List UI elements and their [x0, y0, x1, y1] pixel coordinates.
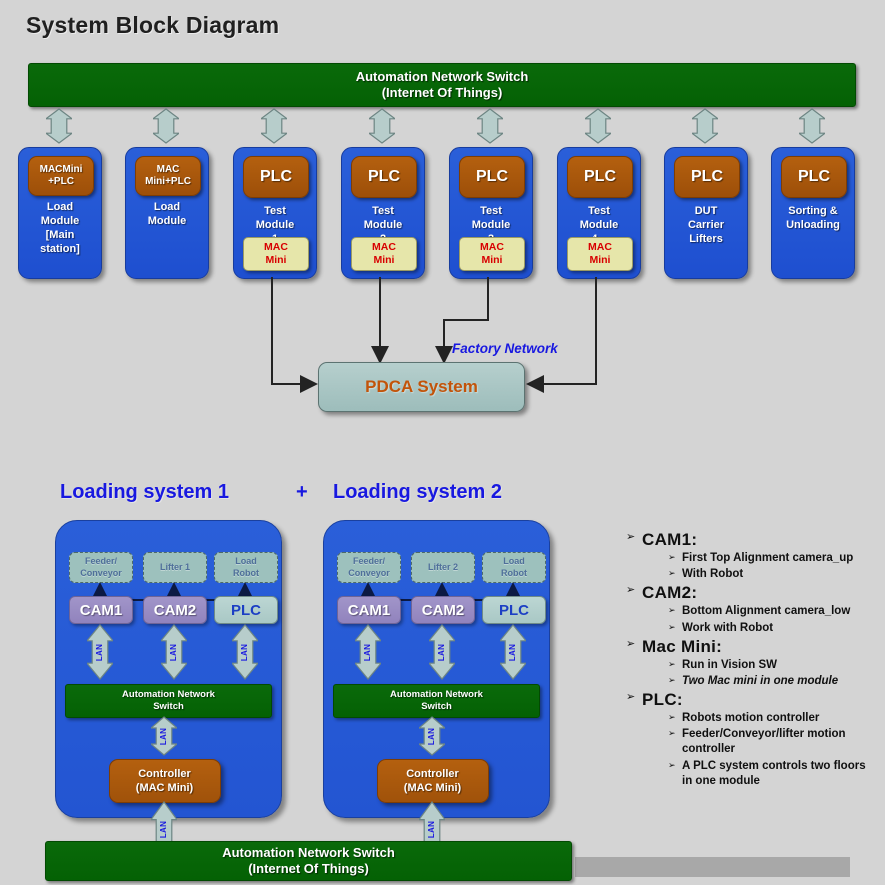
- legend: ➢CAM1:➢First Top Alignment camera_up➢Wit…: [616, 530, 878, 790]
- switch-link-arrow-6: [585, 108, 611, 144]
- legend-group-1-item-2-text: With Robot: [682, 567, 743, 582]
- loading-system-1-device-1[interactable]: Feeder/Conveyor: [69, 552, 133, 583]
- module-1-label-line-4: station]: [19, 242, 101, 256]
- bottom-gray-rail: [575, 857, 850, 877]
- top-switch-line1: Automation Network Switch: [356, 69, 529, 85]
- bottom-switch-line1: Automation Network Switch: [222, 845, 395, 861]
- module-3-macmini-line-1: MAC: [264, 241, 288, 254]
- loading-system-2-controller-line1: Controller: [406, 767, 459, 781]
- module-2-chip-line-2: Mini+PLC: [145, 176, 191, 188]
- legend-group-4-item-2: ➢Feeder/Conveyor/lifter motion controlle…: [668, 727, 878, 757]
- module-6-macmini-line-1: MAC: [588, 241, 612, 254]
- loading-system-2-lan-label-controller: LAN: [427, 728, 436, 745]
- top-automation-network-switch: Automation Network Switch (Internet Of T…: [28, 63, 856, 107]
- loading-system-2-device-3[interactable]: LoadRobot: [482, 552, 546, 583]
- module-7-label-line-2: Carrier: [665, 218, 747, 232]
- legend-group-3: ➢Mac Mini:: [626, 637, 878, 657]
- loading-system-1-control-1-label: CAM2: [154, 602, 197, 619]
- module-6-mac-mini[interactable]: MACMini: [567, 237, 633, 271]
- legend-subbullet-icon: ➢: [668, 674, 682, 687]
- module-2-label-line-1: Load: [126, 200, 208, 214]
- legend-group-2-item-2: ➢Work with Robot: [668, 621, 878, 636]
- loading-system-1-lan-label-bottom: LAN: [159, 821, 168, 838]
- switch-link-arrow-3: [261, 108, 287, 144]
- module-7-controller-chip[interactable]: PLC: [674, 156, 740, 198]
- legend-group-4-item-3-text: A PLC system controls two floors in one …: [682, 759, 878, 789]
- module-5-macmini-line-2: Mini: [480, 254, 504, 267]
- legend-group-2: ➢CAM2:: [626, 583, 878, 603]
- loading-system-2-inner-network-switch: Automation NetworkSwitch: [333, 684, 540, 718]
- module-4-controller-chip[interactable]: PLC: [351, 156, 417, 198]
- bottom-switch-line2: (Internet Of Things): [248, 861, 369, 877]
- pdca-label: PDCA System: [365, 377, 478, 397]
- module-3-mac-mini[interactable]: MACMini: [243, 237, 309, 271]
- legend-group-1-item-1-text: First Top Alignment camera_up: [682, 551, 853, 566]
- loading-system-2-control-plc[interactable]: PLC: [482, 596, 546, 624]
- module-2-controller-chip[interactable]: MACMini+PLC: [135, 156, 201, 196]
- module-6-macmini-line-2: Mini: [588, 254, 612, 267]
- loading-system-1-control-0-label: CAM1: [80, 602, 123, 619]
- legend-subbullet-icon: ➢: [668, 567, 682, 580]
- switch-link-arrow-1: [46, 108, 72, 144]
- module-card-2[interactable]: MACMini+PLCLoadModule: [125, 147, 209, 279]
- module-1-controller-chip[interactable]: MACMini+PLC: [28, 156, 94, 196]
- legend-group-2-item-2-text: Work with Robot: [682, 621, 773, 636]
- module-1-chip-line-2: +PLC: [40, 176, 83, 188]
- legend-group-3-title: Mac Mini:: [642, 637, 722, 657]
- legend-subbullet-icon: ➢: [668, 604, 682, 617]
- loading-system-2-device-3-line-2: Robot: [501, 568, 527, 579]
- switch-link-arrow-8: [799, 108, 825, 144]
- legend-group-1-title: CAM1:: [642, 530, 697, 550]
- loading-system-1-control-plc[interactable]: PLC: [214, 596, 278, 624]
- loading-system-2-control-0-label: CAM1: [348, 602, 391, 619]
- loading-system-1-controller-line1: Controller: [138, 767, 191, 781]
- module-7-label: DUTCarrierLifters: [665, 204, 747, 246]
- module-8-label-line-2: Unloading: [772, 218, 854, 232]
- switch-link-arrow-5: [477, 108, 503, 144]
- loading-system-1-control-cam1[interactable]: CAM1: [69, 596, 133, 624]
- module-1-label-line-2: Module: [19, 214, 101, 228]
- legend-group-3-item-2: ➢Two Mac mini in one module: [668, 674, 878, 689]
- module-2-label: LoadModule: [126, 200, 208, 228]
- switch-link-arrow-7: [692, 108, 718, 144]
- loading-system-1-lan-label-2: LAN: [169, 644, 178, 661]
- loading-system-2-control-cam1[interactable]: CAM1: [337, 596, 401, 624]
- loading-system-2-control-1-label: CAM2: [422, 602, 465, 619]
- loading-system-1-device-2[interactable]: Lifter 1: [143, 552, 207, 583]
- module-1-label-line-1: Load: [19, 200, 101, 214]
- module-7-chip-line-1: PLC: [691, 167, 723, 186]
- legend-subbullet-icon: ➢: [668, 621, 682, 634]
- switch-link-arrow-4: [369, 108, 395, 144]
- module-3-label-line-2: Module: [234, 218, 316, 232]
- module-1-chip-line-1: MACMini: [40, 164, 83, 176]
- loading-system-1-inner-network-switch: Automation NetworkSwitch: [65, 684, 272, 718]
- module-3-label-line-1: Test: [234, 204, 316, 218]
- module-8-label: Sorting &Unloading: [772, 204, 854, 232]
- loading-system-2-lan-label-2: LAN: [437, 644, 446, 661]
- module-7-label-line-3: Lifters: [665, 232, 747, 246]
- module-3-chip-line-1: PLC: [260, 167, 292, 186]
- module-1-label: LoadModule[Mainstation]: [19, 200, 101, 256]
- legend-group-2-item-1-text: Bottom Alignment camera_low: [682, 604, 850, 619]
- legend-group-3-item-1: ➢Run in Vision SW: [668, 658, 878, 673]
- module-1-label-line-3: [Main: [19, 228, 101, 242]
- loading-system-1-inner-switch-line1: Automation Network: [122, 689, 215, 701]
- loading-system-1-device-3[interactable]: LoadRobot: [214, 552, 278, 583]
- top-switch-line2: (Internet Of Things): [382, 85, 503, 101]
- legend-subbullet-icon: ➢: [668, 727, 682, 740]
- loading-system-2-controller[interactable]: Controller(MAC Mini): [377, 759, 489, 803]
- pdca-system-box[interactable]: PDCA System: [318, 362, 525, 412]
- module-8-chip-line-1: PLC: [798, 167, 830, 186]
- module-card-8[interactable]: PLCSorting &Unloading: [771, 147, 855, 279]
- legend-group-1: ➢CAM1:: [626, 530, 878, 550]
- legend-group-4-item-1-text: Robots motion controller: [682, 711, 819, 726]
- legend-group-1-item-2: ➢With Robot: [668, 567, 878, 582]
- module-card-7[interactable]: PLCDUTCarrierLifters: [664, 147, 748, 279]
- factory-network-label: Factory Network: [452, 341, 558, 356]
- module-8-label-line-1: Sorting &: [772, 204, 854, 218]
- module-5-label-line-1: Test: [450, 204, 532, 218]
- loading-system-2-controller-line2: (MAC Mini): [404, 781, 461, 795]
- loading-system-2-lan-label-bottom: LAN: [427, 821, 436, 838]
- legend-group-2-title: CAM2:: [642, 583, 697, 603]
- loading-system-1-lan-label-3: LAN: [240, 644, 249, 661]
- module-5-controller-chip[interactable]: PLC: [459, 156, 525, 198]
- legend-group-3-item-2-text: Two Mac mini in one module: [682, 674, 838, 689]
- loading-system-2-device-1-line-2: Conveyor: [348, 568, 390, 579]
- legend-subbullet-icon: ➢: [668, 711, 682, 724]
- module-6-chip-line-1: PLC: [584, 167, 616, 186]
- legend-group-4-item-3: ➢A PLC system controls two floors in one…: [668, 759, 878, 789]
- legend-group-4-title: PLC:: [642, 690, 683, 710]
- legend-bullet-icon: ➢: [626, 637, 642, 651]
- loading-system-2-lan-label-3: LAN: [508, 644, 517, 661]
- loading-system-2-inner-switch-line2: Switch: [421, 701, 452, 713]
- module-4-mac-mini[interactable]: MACMini: [351, 237, 417, 271]
- page-title: System Block Diagram: [26, 12, 279, 39]
- module-3-controller-chip[interactable]: PLC: [243, 156, 309, 198]
- module-3-macmini-line-2: Mini: [264, 254, 288, 267]
- loading-system-2-device-1-line-1: Feeder/: [348, 556, 390, 567]
- module-6-label-line-1: Test: [558, 204, 640, 218]
- loading-system-2-inner-switch-line1: Automation Network: [390, 689, 483, 701]
- loading-system-2-device-2[interactable]: Lifter 2: [411, 552, 475, 583]
- module-4-label-line-1: Test: [342, 204, 424, 218]
- module-4-chip-line-1: PLC: [368, 167, 400, 186]
- loading-system-2-device-1[interactable]: Feeder/Conveyor: [337, 552, 401, 583]
- legend-bullet-icon: ➢: [626, 530, 642, 544]
- loading-system-2-device-2-line-1: Lifter 2: [428, 562, 458, 573]
- loading-system-1-controller[interactable]: Controller(MAC Mini): [109, 759, 221, 803]
- loading-system-1-device-3-line-2: Robot: [233, 568, 259, 579]
- legend-bullet-icon: ➢: [626, 690, 642, 704]
- module-card-1[interactable]: MACMini+PLCLoadModule[Mainstation]: [18, 147, 102, 279]
- legend-group-4-item-2-text: Feeder/Conveyor/lifter motion controller: [682, 727, 878, 757]
- module-5-mac-mini[interactable]: MACMini: [459, 237, 525, 271]
- legend-group-4-item-1: ➢Robots motion controller: [668, 711, 878, 726]
- module-card-4[interactable]: PLCTestModule2MACMini: [341, 147, 425, 279]
- legend-bullet-icon: ➢: [626, 583, 642, 597]
- module-2-label-line-2: Module: [126, 214, 208, 228]
- bottom-automation-network-switch: Automation Network Switch (Internet Of T…: [45, 841, 572, 881]
- module-2-chip-line-1: MAC: [145, 164, 191, 176]
- module-5-macmini-line-1: MAC: [480, 241, 504, 254]
- legend-subbullet-icon: ➢: [668, 658, 682, 671]
- loading-system-1-lan-label-1: LAN: [95, 644, 104, 661]
- loading-system-2-control-cam2[interactable]: CAM2: [411, 596, 475, 624]
- loading-system-2-heading: Loading system 2: [333, 481, 502, 504]
- module-8-controller-chip[interactable]: PLC: [781, 156, 847, 198]
- loading-system-2-control-2-label: PLC: [499, 602, 529, 619]
- loading-system-1-device-1-line-1: Feeder/: [80, 556, 122, 567]
- loading-system-1-controller-line2: (MAC Mini): [136, 781, 193, 795]
- switch-link-arrow-2: [153, 108, 179, 144]
- module-4-macmini-line-1: MAC: [372, 241, 396, 254]
- loading-system-1-lan-label-controller: LAN: [159, 728, 168, 745]
- module-6-controller-chip[interactable]: PLC: [567, 156, 633, 198]
- legend-subbullet-icon: ➢: [668, 551, 682, 564]
- module-card-3[interactable]: PLCTestModule1MACMini: [233, 147, 317, 279]
- module-5-chip-line-1: PLC: [476, 167, 508, 186]
- loading-systems-plus: +: [296, 481, 308, 504]
- loading-system-1-heading: Loading system 1: [60, 481, 229, 504]
- loading-system-1-device-1-line-2: Conveyor: [80, 568, 122, 579]
- legend-subbullet-icon: ➢: [668, 759, 682, 772]
- module-7-label-line-1: DUT: [665, 204, 747, 218]
- legend-group-3-item-1-text: Run in Vision SW: [682, 658, 777, 673]
- legend-group-4: ➢PLC:: [626, 690, 878, 710]
- loading-system-1-inner-switch-line2: Switch: [153, 701, 184, 713]
- loading-system-1-control-2-label: PLC: [231, 602, 261, 619]
- legend-group-2-item-1: ➢Bottom Alignment camera_low: [668, 604, 878, 619]
- legend-group-1-item-1: ➢First Top Alignment camera_up: [668, 551, 878, 566]
- loading-system-2-lan-label-1: LAN: [363, 644, 372, 661]
- module-6-label-line-2: Module: [558, 218, 640, 232]
- module-4-macmini-line-2: Mini: [372, 254, 396, 267]
- loading-system-1-device-2-line-1: Lifter 1: [160, 562, 190, 573]
- module-5-label-line-2: Module: [450, 218, 532, 232]
- loading-system-1-control-cam2[interactable]: CAM2: [143, 596, 207, 624]
- loading-system-1-device-3-line-1: Load: [233, 556, 259, 567]
- module-card-5[interactable]: PLCTestModule3MACMini: [449, 147, 533, 279]
- module-4-label-line-2: Module: [342, 218, 424, 232]
- loading-system-2-device-3-line-1: Load: [501, 556, 527, 567]
- module-card-6[interactable]: PLCTestModule4...MACMini: [557, 147, 641, 279]
